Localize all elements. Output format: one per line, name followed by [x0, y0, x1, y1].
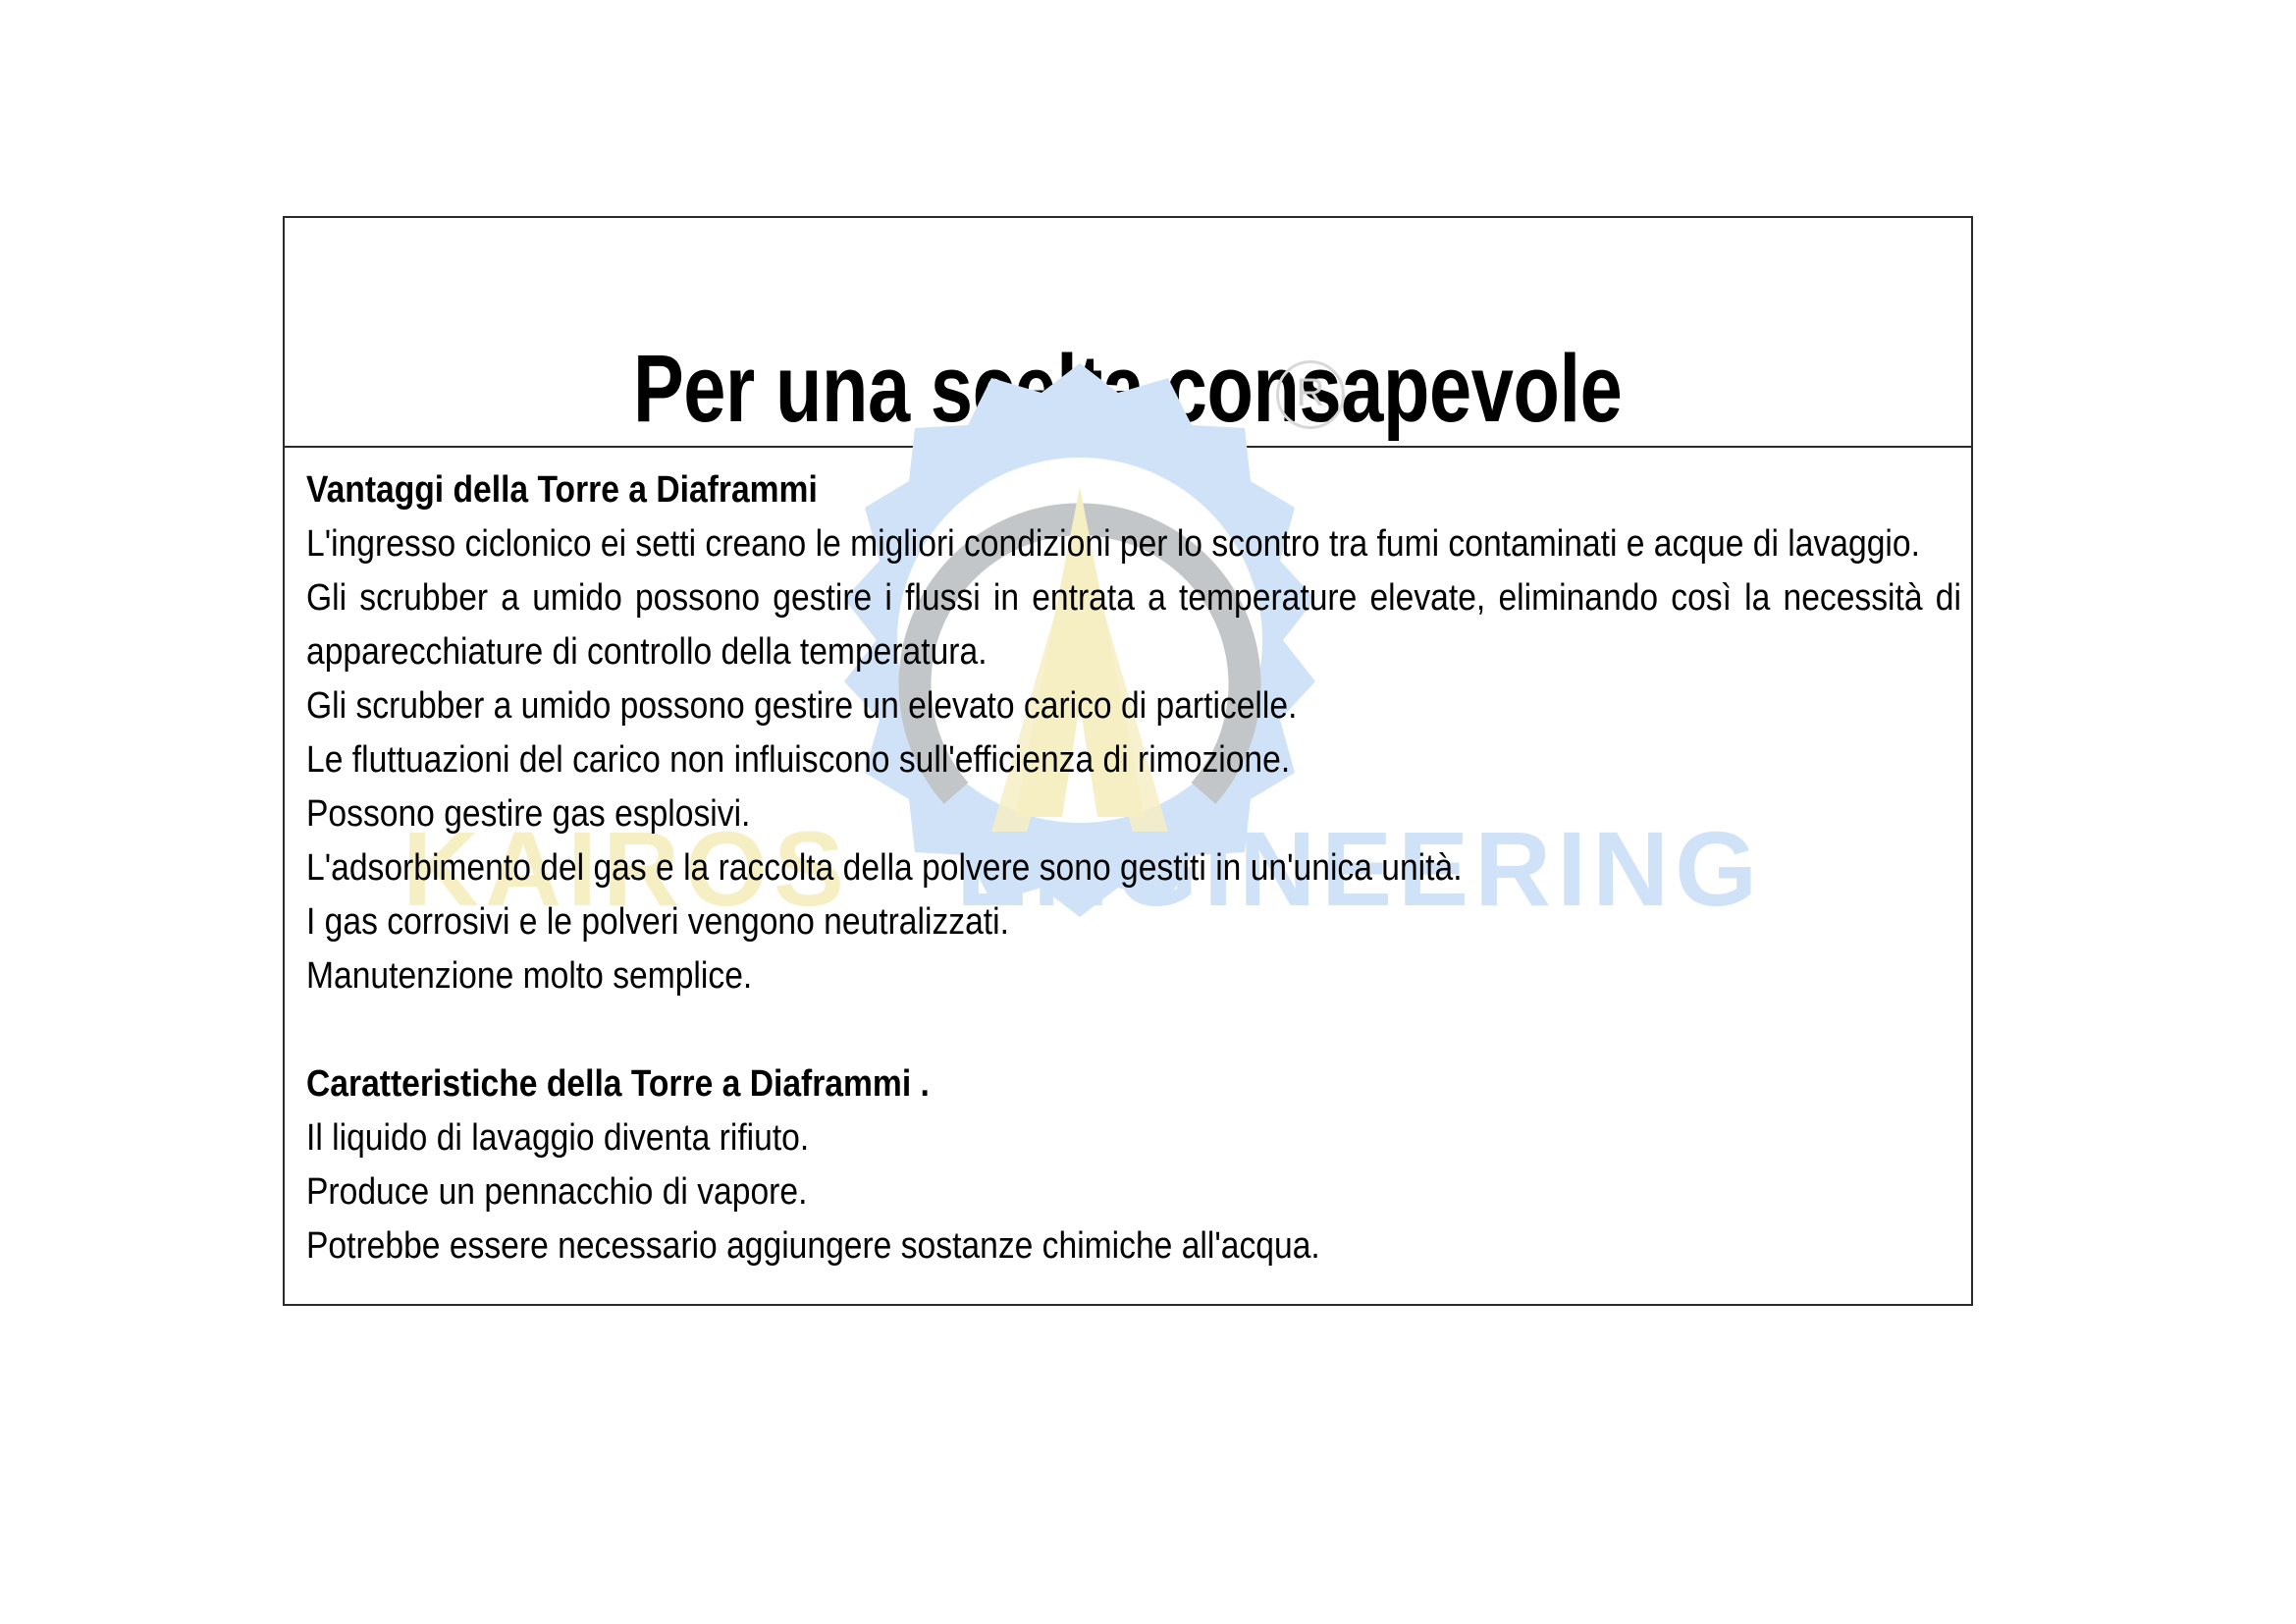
section-heading-caratteristiche: Caratteristiche della Torre a Diaframmi … — [306, 1057, 1760, 1111]
body-line: Le fluttuazioni del carico non influisco… — [306, 733, 1760, 787]
slide-frame: R KAIROS ENGINEERING Per una scelta cons… — [283, 216, 1973, 1306]
body-line: Il liquido di lavaggio diventa rifiuto. — [306, 1111, 1760, 1165]
body-line: Gli scrubber a umido possono gestire un … — [306, 679, 1760, 733]
body-line: Possono gestire gas esplosivi. — [306, 787, 1760, 841]
body-content: Vantaggi della Torre a Diaframmi L'ingre… — [285, 448, 1971, 1306]
body-line: Produce un pennacchio di vapore. — [306, 1165, 1760, 1219]
section-heading-vantaggi: Vantaggi della Torre a Diaframmi — [306, 463, 1760, 517]
body-line: I gas corrosivi e le polveri vengono neu… — [306, 895, 1760, 949]
document-page: R KAIROS ENGINEERING Per una scelta cons… — [0, 0, 2296, 1624]
page-title: Per una scelta consapevole — [633, 341, 1623, 446]
paragraph-spacer — [306, 1003, 1949, 1057]
body-line: Manutenzione molto semplice. — [306, 949, 1760, 1003]
body-line: Gli scrubber a umido possono gestire i f… — [306, 571, 1961, 679]
body-line: L'ingresso ciclonico ei setti creano le … — [306, 517, 1961, 571]
body-line: Potrebbe essere necessario aggiungere so… — [306, 1219, 1760, 1273]
body-line: L'adsorbimento del gas e la raccolta del… — [306, 841, 1760, 895]
title-row: Per una scelta consapevole — [285, 218, 1971, 448]
